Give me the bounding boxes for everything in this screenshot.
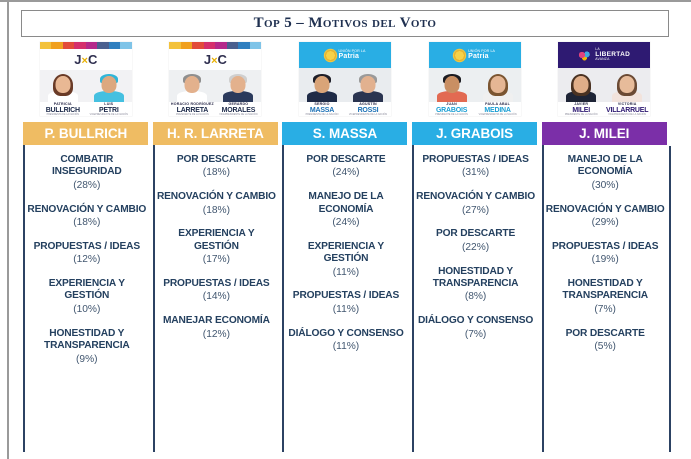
motive-item: MANEJO DE LA ECONOMÍA(24%) xyxy=(284,191,407,230)
motive-label: EXPERIENCIA Y GESTIÓN xyxy=(155,228,278,253)
motives-list-milei: MANEJO DE LA ECONOMÍA(30%)RENOVACIÓN Y C… xyxy=(542,145,667,452)
candidate-role: PRESIDENTE DE LA NACIÓN xyxy=(299,114,345,116)
motive-percent: (28%) xyxy=(25,179,148,193)
candidate-banner-grabois[interactable]: J. GRABOIS xyxy=(412,122,537,145)
motive-label: PROPUESTAS / IDEAS xyxy=(155,278,278,290)
frame-left-rule xyxy=(7,0,9,459)
motive-percent: (8%) xyxy=(414,290,537,304)
photo-head xyxy=(314,76,329,93)
motive-label: PROPUESTAS / IDEAS xyxy=(284,290,407,302)
candidate-banner-bullrich[interactable]: P. BULLRICH xyxy=(23,122,148,145)
motive-item: PROPUESTAS / IDEAS(12%) xyxy=(25,241,148,267)
motive-percent: (30%) xyxy=(544,179,667,193)
poster-candidate-name: AGUSTÍNROSSIVICEPRESIDENTE DE LA NACIÓN xyxy=(345,102,391,116)
candidate-photo xyxy=(40,70,86,102)
candidate-banner-label: J. MILEI xyxy=(579,126,629,141)
motive-item: POR DESCARTE(5%) xyxy=(544,328,667,354)
candidate-role: PRESIDENTE DE LA NACIÓN xyxy=(558,114,604,116)
party-logo-union-por-la-patria: UNIÓN POR LAPatria xyxy=(299,42,391,68)
candidate-banner-label: H. R. LARRETA xyxy=(167,126,264,141)
motive-item: HONESTIDAD Y TRANSPARENCIA(8%) xyxy=(414,266,537,305)
poster-candidate-name: PAULA ABALMEDINAVICEPRESIDENTA DE LA NAC… xyxy=(475,102,521,116)
campaign-poster-bullrich: J×CPATRICIABULLRICHPRESIDENTA DE LA NACI… xyxy=(40,42,132,116)
motive-label: POR DESCARTE xyxy=(284,154,407,166)
poster-nameplate: JAVIERMILEIPRESIDENTE DE LA NACIÓNVICTOR… xyxy=(558,102,650,116)
candidate-photo xyxy=(86,70,132,102)
candidate-photos xyxy=(429,68,521,102)
motive-percent: (18%) xyxy=(25,216,148,230)
party-logo-jxc: J×C xyxy=(40,49,132,70)
motive-item: COMBATIR INSEGURIDAD(28%) xyxy=(25,154,148,193)
motive-item: POR DESCARTE(22%) xyxy=(414,228,537,254)
candidate-column-larreta: J×CHORACIO RODRÍGUEZLARRETAPRESIDENTE DE… xyxy=(151,40,281,452)
motives-list-bullrich: COMBATIR INSEGURIDAD(28%)RENOVACIÓN Y CA… xyxy=(23,145,148,452)
candidate-photo xyxy=(558,68,604,102)
candidate-role: PRESIDENTE DE LA NACIÓN xyxy=(169,114,215,116)
motive-label: RENOVACIÓN Y CAMBIO xyxy=(544,204,667,216)
motive-label: HONESTIDAD Y TRANSPARENCIA xyxy=(25,328,148,353)
motive-item: DIÁLOGO Y CONSENSO(11%) xyxy=(284,328,407,354)
motive-label: RENOVACIÓN Y CAMBIO xyxy=(25,204,148,216)
motive-label: POR DESCARTE xyxy=(155,154,278,166)
candidate-role: VICEPRESIDENTE DE LA NACIÓN xyxy=(345,114,391,116)
motive-percent: (10%) xyxy=(25,303,148,317)
motive-percent: (7%) xyxy=(414,328,537,342)
photo-head xyxy=(620,76,635,93)
candidate-role: PRESIDENTE DE LA NACIÓN xyxy=(429,114,475,116)
motive-percent: (19%) xyxy=(544,253,667,267)
candidate-photos xyxy=(299,68,391,102)
poster-candidate-name: PATRICIABULLRICHPRESIDENTA DE LA NACIÓN xyxy=(40,102,86,116)
motive-label: POR DESCARTE xyxy=(544,328,667,340)
motives-list-massa: POR DESCARTE(24%)MANEJO DE LA ECONOMÍA(2… xyxy=(282,145,407,452)
candidate-photos xyxy=(558,68,650,102)
panel-title-bar: Top 5 – Motivos del Voto xyxy=(21,10,669,37)
poster-candidate-name: JAVIERMILEIPRESIDENTE DE LA NACIÓN xyxy=(558,102,604,116)
party-logo-text: J×C xyxy=(204,52,227,67)
candidate-banner-milei[interactable]: J. MILEI xyxy=(542,122,667,145)
motive-percent: (11%) xyxy=(284,340,407,354)
motive-item: RENOVACIÓN Y CAMBIO(18%) xyxy=(155,191,278,217)
motives-list-grabois: PROPUESTAS / IDEAS(31%)RENOVACIÓN Y CAMB… xyxy=(412,145,537,452)
motive-item: POR DESCARTE(18%) xyxy=(155,154,278,180)
motive-percent: (27%) xyxy=(414,204,537,218)
candidate-banner-label: J. GRABOIS xyxy=(436,126,513,141)
sun-of-may-icon xyxy=(454,50,465,61)
poster-candidate-name: LUISPETRIVICEPRESIDENTE DE LA NACIÓN xyxy=(86,102,132,116)
candidate-photo xyxy=(429,68,475,102)
campaign-poster-larreta: J×CHORACIO RODRÍGUEZLARRETAPRESIDENTE DE… xyxy=(169,42,261,116)
candidate-banner-larreta[interactable]: H. R. LARRETA xyxy=(153,122,278,145)
candidate-column-grabois: UNIÓN POR LAPatriaJUANGRABOISPRESIDENTE … xyxy=(410,40,540,452)
candidate-role: VICEPRESIDENTE DE LA NACIÓN xyxy=(86,114,132,116)
candidate-column-milei: LALIBERTADAVANZAJAVIERMILEIPRESIDENTE DE… xyxy=(539,40,669,452)
motive-item: PROPUESTAS / IDEAS(14%) xyxy=(155,278,278,304)
party-logo-union-por-la-patria: UNIÓN POR LAPatria xyxy=(429,42,521,68)
motive-percent: (22%) xyxy=(414,241,537,255)
motive-percent: (9%) xyxy=(25,353,148,367)
candidate-banner-label: P. BULLRICH xyxy=(44,126,127,141)
photo-head xyxy=(444,76,459,93)
motive-percent: (11%) xyxy=(284,303,407,317)
party-rainbow-strip-icon xyxy=(40,42,132,49)
candidate-photo xyxy=(345,68,391,102)
poster-candidate-name: VICTORIAVILLARRUELVICEPRESIDENTA DE LA N… xyxy=(604,102,650,116)
motive-label: DIÁLOGO Y CONSENSO xyxy=(284,328,407,340)
candidate-role: VICEPRESIDENTA DE LA NACIÓN xyxy=(604,114,650,116)
motive-label: EXPERIENCIA Y GESTIÓN xyxy=(25,278,148,303)
candidate-banner-label: S. MASSA xyxy=(313,126,377,141)
campaign-poster-massa: UNIÓN POR LAPatriaSERGIOMASSAPRESIDENTE … xyxy=(299,42,391,116)
motive-label: DIÁLOGO Y CONSENSO xyxy=(414,315,537,327)
motive-label: PROPUESTAS / IDEAS xyxy=(414,154,537,166)
poster-candidate-name: GERARDOMORALESVICEPRESIDENTE DE LA NACIÓ… xyxy=(215,102,261,116)
candidate-banner-massa[interactable]: S. MASSA xyxy=(282,122,407,145)
party-logo-text: J×C xyxy=(74,52,97,67)
motive-item: RENOVACIÓN Y CAMBIO(27%) xyxy=(414,191,537,217)
sun-of-may-icon xyxy=(325,50,336,61)
candidate-photos xyxy=(169,70,261,102)
candidate-photos xyxy=(40,70,132,102)
party-logo-text: UNIÓN POR LAPatria xyxy=(468,50,495,61)
photo-head xyxy=(490,76,505,93)
motive-percent: (24%) xyxy=(284,216,407,230)
poster-nameplate: SERGIOMASSAPRESIDENTE DE LA NACIÓNAGUSTÍ… xyxy=(299,102,391,116)
candidate-columns: J×CPATRICIABULLRICHPRESIDENTA DE LA NACI… xyxy=(21,40,669,452)
motive-percent: (18%) xyxy=(155,204,278,218)
motive-item: DIÁLOGO Y CONSENSO(7%) xyxy=(414,315,537,341)
motive-item: MANEJAR ECONOMÍA(12%) xyxy=(155,315,278,341)
campaign-poster-grabois: UNIÓN POR LAPatriaJUANGRABOISPRESIDENTE … xyxy=(429,42,521,116)
motive-percent: (7%) xyxy=(544,303,667,317)
motive-percent: (17%) xyxy=(155,253,278,267)
motive-item: PROPUESTAS / IDEAS(31%) xyxy=(414,154,537,180)
motive-item: EXPERIENCIA Y GESTIÓN(11%) xyxy=(284,241,407,280)
motive-label: MANEJO DE LA ECONOMÍA xyxy=(284,191,407,216)
motive-item: EXPERIENCIA Y GESTIÓN(17%) xyxy=(155,228,278,267)
motive-label: MANEJO DE LA ECONOMÍA xyxy=(544,154,667,179)
candidate-photo xyxy=(299,68,345,102)
candidate-column-bullrich: J×CPATRICIABULLRICHPRESIDENTA DE LA NACI… xyxy=(21,40,151,452)
motive-percent: (12%) xyxy=(155,328,278,342)
motive-item: EXPERIENCIA Y GESTIÓN(10%) xyxy=(25,278,148,317)
candidate-role: PRESIDENTA DE LA NACIÓN xyxy=(40,114,86,116)
motive-percent: (29%) xyxy=(544,216,667,230)
candidate-role: VICEPRESIDENTA DE LA NACIÓN xyxy=(475,114,521,116)
page-title: Top 5 – Motivos del Voto xyxy=(254,15,437,32)
motive-label: PROPUESTAS / IDEAS xyxy=(25,241,148,253)
candidate-photo xyxy=(169,70,215,102)
motive-percent: (14%) xyxy=(155,290,278,304)
motive-label: HONESTIDAD Y TRANSPARENCIA xyxy=(414,266,537,291)
motive-label: POR DESCARTE xyxy=(414,228,537,240)
motive-percent: (12%) xyxy=(25,253,148,267)
motive-label: RENOVACIÓN Y CAMBIO xyxy=(414,191,537,203)
motive-item: POR DESCARTE(24%) xyxy=(284,154,407,180)
poster-nameplate: HORACIO RODRÍGUEZLARRETAPRESIDENTE DE LA… xyxy=(169,102,261,116)
party-logo-text: UNIÓN POR LAPatria xyxy=(339,50,366,61)
motive-percent: (11%) xyxy=(284,266,407,280)
candidate-photo xyxy=(604,68,650,102)
motive-item: RENOVACIÓN Y CAMBIO(29%) xyxy=(544,204,667,230)
motive-percent: (18%) xyxy=(155,166,278,180)
photo-head xyxy=(101,76,116,93)
motive-label: RENOVACIÓN Y CAMBIO xyxy=(155,191,278,203)
candidate-photo xyxy=(475,68,521,102)
party-logo-jxc: J×C xyxy=(169,49,261,70)
motives-list-larreta: POR DESCARTE(18%)RENOVACIÓN Y CAMBIO(18%… xyxy=(153,145,278,452)
photo-head xyxy=(574,76,589,93)
campaign-poster-milei: LALIBERTADAVANZAJAVIERMILEIPRESIDENTE DE… xyxy=(558,42,650,116)
motive-label: EXPERIENCIA Y GESTIÓN xyxy=(284,241,407,266)
motive-item: PROPUESTAS / IDEAS(19%) xyxy=(544,241,667,267)
photo-head xyxy=(185,76,200,93)
party-logo-text: LALIBERTADAVANZA xyxy=(595,48,630,62)
motive-percent: (5%) xyxy=(544,340,667,354)
party-logo-la-libertad-avanza: LALIBERTADAVANZA xyxy=(558,42,650,68)
poster-nameplate: JUANGRABOISPRESIDENTE DE LA NACIÓNPAULA … xyxy=(429,102,521,116)
motive-label: COMBATIR INSEGURIDAD xyxy=(25,154,148,179)
poster-candidate-name: SERGIOMASSAPRESIDENTE DE LA NACIÓN xyxy=(299,102,345,116)
motive-percent: (24%) xyxy=(284,166,407,180)
candidate-photo xyxy=(215,70,261,102)
candidate-column-massa: UNIÓN POR LAPatriaSERGIOMASSAPRESIDENTE … xyxy=(280,40,410,452)
lion-mark-icon xyxy=(578,50,591,61)
photo-head xyxy=(360,76,375,93)
poster-candidate-name: HORACIO RODRÍGUEZLARRETAPRESIDENTE DE LA… xyxy=(169,102,215,116)
motive-label: MANEJAR ECONOMÍA xyxy=(155,315,278,327)
motive-item: RENOVACIÓN Y CAMBIO(18%) xyxy=(25,204,148,230)
motive-item: MANEJO DE LA ECONOMÍA(30%) xyxy=(544,154,667,193)
motive-item: HONESTIDAD Y TRANSPARENCIA(9%) xyxy=(25,328,148,367)
column-right-rule xyxy=(669,146,671,452)
candidate-role: VICEPRESIDENTE DE LA NACIÓN xyxy=(215,114,261,116)
frame-top-rule xyxy=(0,0,691,2)
motive-label: PROPUESTAS / IDEAS xyxy=(544,241,667,253)
motive-percent: (31%) xyxy=(414,166,537,180)
motive-label: HONESTIDAD Y TRANSPARENCIA xyxy=(544,278,667,303)
party-rainbow-strip-icon xyxy=(169,42,261,49)
poster-nameplate: PATRICIABULLRICHPRESIDENTA DE LA NACIÓNL… xyxy=(40,102,132,116)
motive-item: HONESTIDAD Y TRANSPARENCIA(7%) xyxy=(544,278,667,317)
motive-item: PROPUESTAS / IDEAS(11%) xyxy=(284,290,407,316)
poster-candidate-name: JUANGRABOISPRESIDENTE DE LA NACIÓN xyxy=(429,102,475,116)
photo-head xyxy=(231,76,246,93)
photo-head xyxy=(55,76,70,93)
poll-results-panel: Top 5 – Motivos del Voto J×CPATRICIABULL… xyxy=(0,0,691,459)
